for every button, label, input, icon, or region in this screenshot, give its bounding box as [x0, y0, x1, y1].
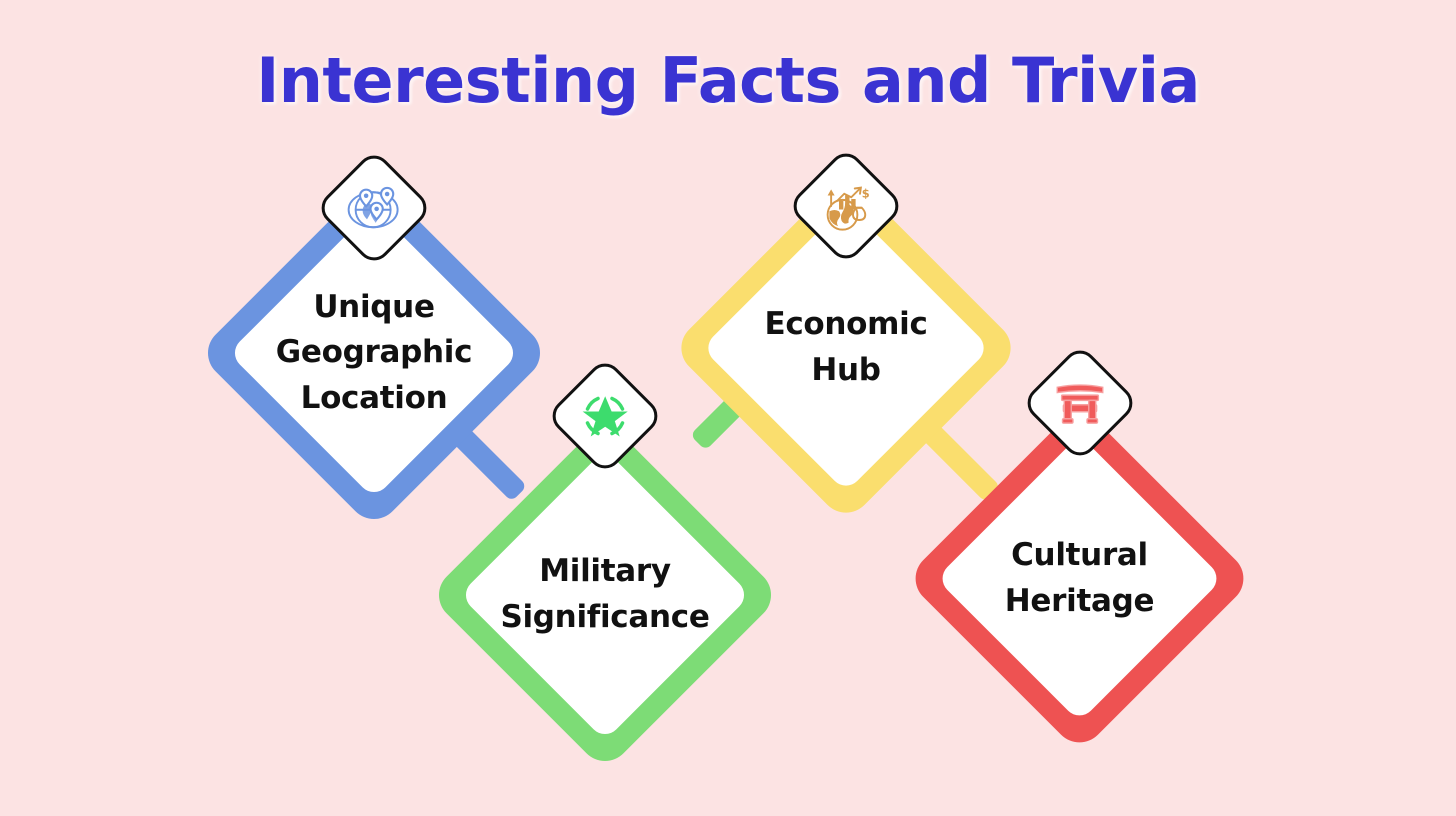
card-label-cultural-heritage: Cultural Heritage	[956, 455, 1203, 702]
card-label-line-3: Location	[276, 376, 472, 422]
card-label-unique-geographic-location: Unique Geographic Location	[249, 228, 499, 478]
page-title: Interesting Facts and Trivia	[0, 44, 1456, 117]
card-label-line-1: Economic	[764, 302, 927, 348]
infographic-canvas: Interesting Facts and Trivia Unique Geog…	[0, 0, 1456, 816]
badge-military-significance[interactable]	[546, 357, 665, 476]
card-label-military-significance: Military Significance	[480, 470, 730, 720]
card-label-line-1: Unique	[276, 285, 472, 331]
svg-text:$: $	[862, 186, 870, 200]
torii-gate-icon	[1041, 364, 1119, 442]
card-label-line-2: Hub	[764, 348, 927, 394]
globe-pins-icon	[335, 169, 413, 247]
card-label-line-2: Significance	[500, 595, 709, 641]
economic-growth-globe-icon: $	[807, 167, 885, 245]
military-star-icon	[566, 377, 644, 455]
card-label-line-2: Geographic	[276, 330, 472, 376]
card-label-line-1: Cultural	[1005, 533, 1154, 579]
card-label-line-2: Heritage	[1005, 579, 1154, 625]
card-label-economic-hub: Economic Hub	[722, 224, 970, 472]
card-label-line-1: Military	[500, 549, 709, 595]
